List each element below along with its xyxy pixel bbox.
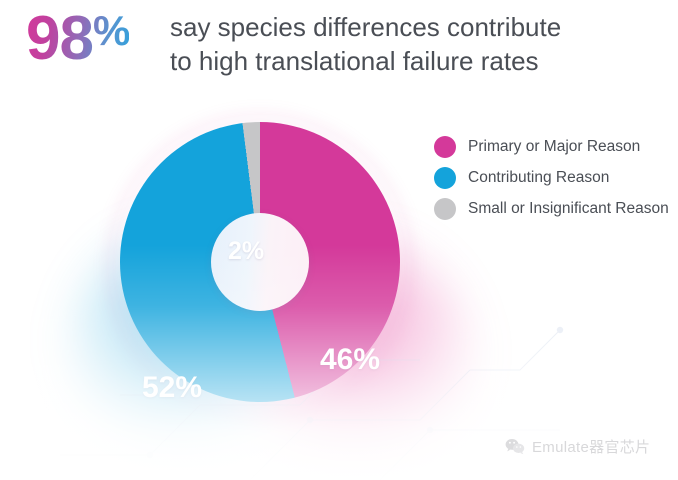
slice-label-contributing-reason: 52% <box>142 373 202 403</box>
legend-label-small-or-insignificant-reason: Small or Insignificant Reason <box>468 200 669 218</box>
wechat-logo-icon <box>505 438 525 455</box>
legend-label-primary-or-major-reason: Primary or Major Reason <box>468 138 640 156</box>
slice-label-primary-or-major-reason: 46% <box>320 345 380 375</box>
watermark-text: Emulate器官芯片 <box>532 436 650 457</box>
headline-statistic-percent-sign: % <box>93 7 129 54</box>
legend-item-primary-or-major-reason[interactable]: Primary or Major Reason <box>434 131 678 162</box>
legend-label-contributing-reason: Contributing Reason <box>468 169 609 187</box>
headline-statistic: 98% <box>26 8 129 70</box>
headline-statistic-number: 98 <box>26 4 93 73</box>
legend-dot-cyan-icon <box>434 167 456 189</box>
slice-label-small-or-insignificant-reason: 2% <box>228 239 264 264</box>
headline-description-line-1: say species differences contribute <box>170 10 670 44</box>
headline-description-line-2: to high translational failure rates <box>170 44 670 78</box>
legend-dot-gray-icon <box>434 198 456 220</box>
legend-dot-magenta-icon <box>434 136 456 158</box>
chart-legend: Primary or Major Reason Contributing Rea… <box>434 131 678 224</box>
legend-item-small-or-insignificant-reason[interactable]: Small or Insignificant Reason <box>434 193 678 224</box>
watermark: Emulate器官芯片 <box>505 436 650 457</box>
headline-banner: 98% say species differences contribute t… <box>0 0 678 95</box>
legend-item-contributing-reason[interactable]: Contributing Reason <box>434 162 678 193</box>
headline-description: say species differences contribute to hi… <box>170 10 670 78</box>
